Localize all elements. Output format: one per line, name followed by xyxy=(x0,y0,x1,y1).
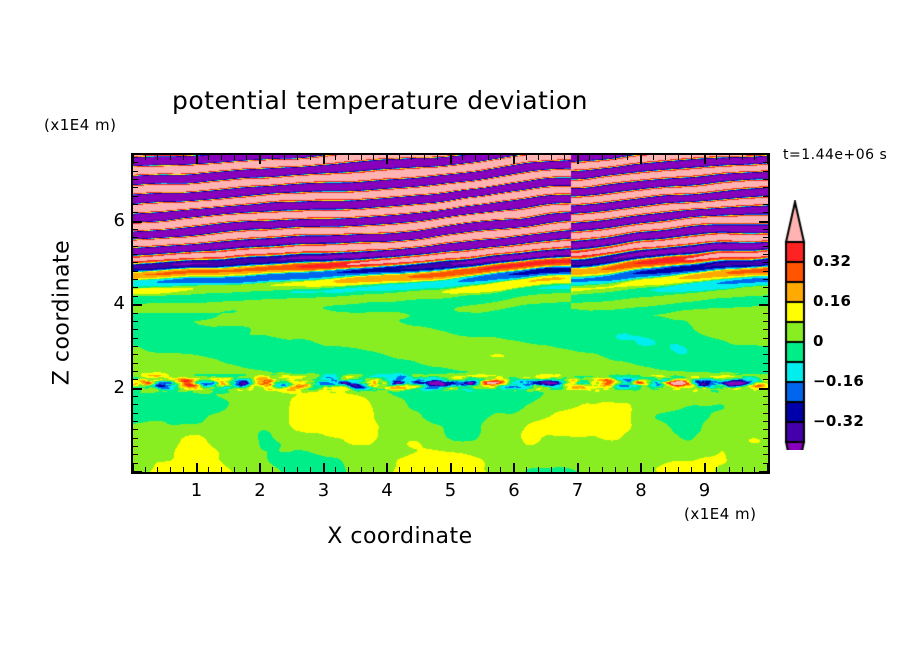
x-tick-label: 9 xyxy=(685,480,725,501)
y-tick xyxy=(763,154,768,155)
x-tick xyxy=(272,155,273,160)
y-tick xyxy=(133,204,138,205)
x-tick xyxy=(437,155,438,160)
y-tick-label: 2 xyxy=(85,377,125,398)
x-tick-label: 4 xyxy=(367,480,407,501)
y-tick xyxy=(133,196,138,197)
y-tick xyxy=(133,338,138,339)
x-tick-label: 7 xyxy=(558,480,598,501)
y-tick xyxy=(763,229,768,230)
x-tick xyxy=(729,467,730,472)
x-tick xyxy=(513,155,515,164)
y-tick xyxy=(763,196,768,197)
x-tick xyxy=(513,463,515,472)
x-tick xyxy=(310,467,311,472)
x-tick xyxy=(538,467,539,472)
y-tick-label: 4 xyxy=(85,293,125,314)
x-tick xyxy=(704,463,706,472)
y-tick xyxy=(133,271,138,272)
y-tick xyxy=(133,187,138,188)
x-tick xyxy=(399,467,400,472)
x-tick xyxy=(183,467,184,472)
x-tick xyxy=(488,467,489,472)
x-tick xyxy=(551,155,552,160)
x-axis-title: X coordinate xyxy=(250,524,550,549)
x-tick xyxy=(577,155,579,164)
x-tick xyxy=(564,467,565,472)
x-tick xyxy=(411,467,412,472)
x-axis-unit-label: (x1E4 m) xyxy=(684,505,757,523)
x-tick xyxy=(424,467,425,472)
x-tick xyxy=(284,155,285,160)
x-tick xyxy=(361,155,362,160)
x-tick-label: 8 xyxy=(621,480,661,501)
y-tick xyxy=(133,396,138,397)
y-tick xyxy=(763,271,768,272)
x-tick xyxy=(615,155,616,160)
y-tick xyxy=(133,471,142,473)
x-tick xyxy=(386,155,388,164)
y-tick xyxy=(133,179,138,180)
x-tick xyxy=(323,463,325,472)
y-tick xyxy=(133,171,138,172)
y-tick xyxy=(133,429,138,430)
y-tick xyxy=(133,313,138,314)
x-tick xyxy=(221,155,222,160)
x-tick xyxy=(500,467,501,472)
x-tick xyxy=(691,467,692,472)
x-tick xyxy=(500,155,501,160)
x-tick xyxy=(665,467,666,472)
x-tick xyxy=(450,155,452,164)
x-tick xyxy=(335,155,336,160)
y-tick xyxy=(133,296,138,297)
y-tick xyxy=(763,413,768,414)
y-tick xyxy=(763,313,768,314)
y-tick xyxy=(763,237,768,238)
x-tick xyxy=(564,155,565,160)
x-tick xyxy=(272,467,273,472)
x-tick xyxy=(475,467,476,472)
x-tick xyxy=(450,463,452,472)
y-tick xyxy=(133,162,138,163)
x-tick xyxy=(742,467,743,472)
x-tick xyxy=(386,463,388,472)
x-tick xyxy=(653,155,654,160)
y-tick xyxy=(133,329,138,330)
x-tick xyxy=(462,155,463,160)
x-tick xyxy=(716,467,717,472)
time-annotation: t=1.44e+06 s xyxy=(783,147,887,163)
colorbar xyxy=(781,200,809,450)
z-axis-unit-label: (x1E4 m) xyxy=(44,116,117,134)
y-tick xyxy=(133,388,142,390)
x-tick xyxy=(716,155,717,160)
x-tick xyxy=(729,155,730,160)
y-tick xyxy=(763,346,768,347)
y-tick-label: 6 xyxy=(85,210,125,231)
y-tick xyxy=(763,354,768,355)
y-tick xyxy=(763,446,768,447)
x-tick xyxy=(297,155,298,160)
y-tick xyxy=(763,162,768,163)
y-tick xyxy=(763,379,768,380)
y-tick xyxy=(763,262,768,263)
y-tick xyxy=(133,354,138,355)
x-tick xyxy=(259,155,261,164)
x-tick xyxy=(348,155,349,160)
y-tick xyxy=(133,279,138,280)
x-tick xyxy=(577,463,579,472)
x-tick xyxy=(754,467,755,472)
x-tick xyxy=(361,467,362,472)
y-tick xyxy=(763,321,768,322)
y-tick xyxy=(133,212,138,213)
x-tick xyxy=(538,155,539,160)
x-tick xyxy=(234,467,235,472)
x-tick xyxy=(297,467,298,472)
y-tick xyxy=(133,246,138,247)
page-title: potential temperature deviation xyxy=(0,86,760,115)
y-tick xyxy=(763,279,768,280)
x-tick xyxy=(170,467,171,472)
x-tick xyxy=(526,467,527,472)
y-tick xyxy=(133,463,138,464)
x-tick xyxy=(196,155,198,164)
y-tick xyxy=(133,321,138,322)
x-tick xyxy=(488,155,489,160)
y-tick xyxy=(763,171,768,172)
y-tick xyxy=(763,296,768,297)
x-tick xyxy=(284,467,285,472)
y-tick xyxy=(133,237,138,238)
x-tick xyxy=(373,467,374,472)
y-tick xyxy=(763,204,768,205)
y-tick xyxy=(763,246,768,247)
colorbar-tick-label: 0 xyxy=(813,332,824,350)
x-tick xyxy=(221,467,222,472)
y-tick xyxy=(133,454,138,455)
y-tick xyxy=(133,262,138,263)
x-tick-label: 1 xyxy=(177,480,217,501)
y-tick xyxy=(763,212,768,213)
x-tick xyxy=(310,155,311,160)
y-tick xyxy=(133,438,138,439)
x-tick xyxy=(704,155,706,164)
y-tick xyxy=(763,371,768,372)
colorbar-tick-label: 0.32 xyxy=(813,252,851,270)
y-tick xyxy=(133,304,142,306)
y-tick xyxy=(133,379,138,380)
x-tick-label: 6 xyxy=(494,480,534,501)
y-tick xyxy=(763,329,768,330)
x-tick xyxy=(424,155,425,160)
x-tick xyxy=(145,467,146,472)
x-tick xyxy=(589,155,590,160)
y-tick xyxy=(759,388,768,390)
y-tick xyxy=(133,421,138,422)
x-tick xyxy=(691,155,692,160)
colorbar-tick-label: −0.32 xyxy=(813,412,864,430)
x-tick xyxy=(640,155,642,164)
x-tick xyxy=(196,463,198,472)
y-tick xyxy=(133,346,138,347)
y-tick xyxy=(763,179,768,180)
y-tick xyxy=(759,304,768,306)
x-tick xyxy=(208,155,209,160)
y-tick xyxy=(133,221,142,223)
y-tick xyxy=(133,371,138,372)
y-tick xyxy=(133,287,138,288)
x-tick xyxy=(348,467,349,472)
x-tick xyxy=(526,155,527,160)
x-tick xyxy=(475,155,476,160)
colorbar-tick-label: −0.16 xyxy=(813,372,864,390)
contour-field xyxy=(133,155,768,472)
x-tick xyxy=(602,155,603,160)
x-tick xyxy=(411,155,412,160)
y-axis-title: Z coordinate xyxy=(50,213,75,413)
x-tick xyxy=(627,467,628,472)
x-tick xyxy=(259,463,261,472)
x-tick xyxy=(246,155,247,160)
y-tick xyxy=(133,254,138,255)
y-tick xyxy=(133,154,138,155)
x-tick xyxy=(602,467,603,472)
y-tick xyxy=(133,404,138,405)
colorbar-tick-label: 0.16 xyxy=(813,292,851,310)
x-tick xyxy=(462,467,463,472)
x-tick xyxy=(742,155,743,160)
y-tick xyxy=(763,187,768,188)
x-tick xyxy=(437,467,438,472)
y-tick xyxy=(763,463,768,464)
x-tick xyxy=(653,467,654,472)
x-tick xyxy=(754,155,755,160)
x-tick xyxy=(627,155,628,160)
x-tick xyxy=(145,155,146,160)
x-tick xyxy=(678,155,679,160)
y-tick xyxy=(763,287,768,288)
x-tick-label: 2 xyxy=(240,480,280,501)
y-tick xyxy=(763,254,768,255)
x-tick xyxy=(665,155,666,160)
x-tick-label: 5 xyxy=(431,480,471,501)
x-tick xyxy=(589,467,590,472)
x-tick xyxy=(208,467,209,472)
y-tick xyxy=(759,471,768,473)
x-tick xyxy=(373,155,374,160)
y-tick xyxy=(763,454,768,455)
y-tick xyxy=(763,338,768,339)
x-tick xyxy=(157,467,158,472)
x-tick xyxy=(157,155,158,160)
y-tick xyxy=(133,446,138,447)
x-tick xyxy=(183,155,184,160)
x-tick xyxy=(678,467,679,472)
x-tick xyxy=(323,155,325,164)
x-tick xyxy=(551,467,552,472)
y-tick xyxy=(763,404,768,405)
y-tick xyxy=(763,438,768,439)
x-tick xyxy=(170,155,171,160)
y-tick xyxy=(759,221,768,223)
x-tick xyxy=(399,155,400,160)
y-tick xyxy=(133,229,138,230)
x-tick xyxy=(246,467,247,472)
y-tick xyxy=(133,363,138,364)
y-tick xyxy=(133,413,138,414)
x-tick xyxy=(335,467,336,472)
y-tick xyxy=(763,396,768,397)
y-tick xyxy=(763,363,768,364)
x-tick-label: 3 xyxy=(304,480,344,501)
y-tick xyxy=(763,429,768,430)
x-tick xyxy=(615,467,616,472)
x-tick xyxy=(640,463,642,472)
y-tick xyxy=(763,421,768,422)
x-tick xyxy=(234,155,235,160)
